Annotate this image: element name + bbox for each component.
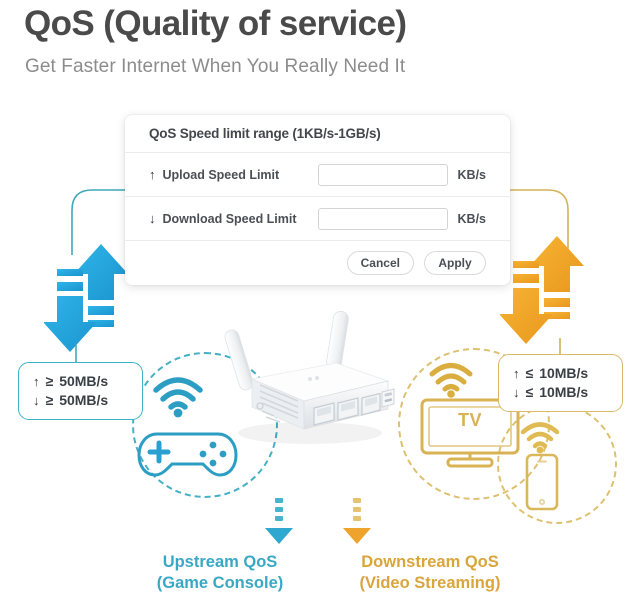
- arrow-up-icon: ↑: [149, 168, 156, 181]
- upload-speed-limit-row: ↑ Upload Speed Limit KB/s: [125, 153, 510, 197]
- wifi-signal-icon: [519, 420, 561, 454]
- downstream-qos-label-line1: Downstream QoS: [340, 552, 520, 573]
- speed-value: 10MB/s: [539, 364, 588, 383]
- apply-button[interactable]: Apply: [424, 251, 486, 275]
- wireless-router-icon: [218, 305, 398, 455]
- wifi-signal-icon: [427, 360, 475, 398]
- operator-symbol: ≤: [526, 383, 534, 402]
- upstream-down-arrow: [262, 498, 296, 546]
- arrow-up-icon: ↑: [33, 373, 40, 391]
- downstream-qos-label-line2: (Video Streaming): [340, 573, 520, 594]
- upstream-qos-label-line1: Upstream QoS: [140, 552, 300, 573]
- cancel-button[interactable]: Cancel: [347, 251, 414, 275]
- download-speed-limit-label-text: Download Speed Limit: [163, 212, 297, 226]
- upstream-qos-label: Upstream QoS (Game Console): [140, 552, 300, 593]
- badge-line: ↓ ≤ 10MB/s: [513, 383, 612, 402]
- arrow-down-icon: ↓: [33, 392, 40, 410]
- upstream-speed-badge: ↑ ≥ 50MB/s ↓ ≥ 50MB/s: [18, 362, 143, 420]
- arrow-down-icon: ↓: [513, 384, 520, 402]
- downstream-down-arrow: [340, 498, 374, 546]
- download-speed-limit-label: ↓ Download Speed Limit: [149, 212, 318, 226]
- downstream-bidirectional-arrow: [500, 230, 596, 350]
- tv-screen-label: TV: [418, 410, 522, 431]
- page-title: QoS (Quality of service): [24, 4, 406, 44]
- operator-symbol: ≥: [46, 372, 54, 391]
- dialog-title: QoS Speed limit range (1KB/s-1GB/s): [149, 126, 381, 141]
- operator-symbol: ≤: [526, 364, 534, 383]
- smartphone-icon: [524, 452, 560, 512]
- dialog-header: QoS Speed limit range (1KB/s-1GB/s): [125, 115, 510, 153]
- download-speed-limit-input[interactable]: [318, 208, 448, 230]
- upload-speed-limit-label-text: Upload Speed Limit: [163, 168, 280, 182]
- speed-value: 10MB/s: [539, 383, 588, 402]
- downstream-speed-badge: ↑ ≤ 10MB/s ↓ ≤ 10MB/s: [498, 354, 623, 412]
- badge-line: ↓ ≥ 50MB/s: [33, 391, 132, 410]
- download-speed-unit: KB/s: [458, 212, 486, 226]
- speed-value: 50MB/s: [59, 391, 108, 410]
- arrow-down-icon: ↓: [149, 212, 156, 225]
- upload-speed-limit-input[interactable]: [318, 164, 448, 186]
- badge-line: ↑ ≥ 50MB/s: [33, 372, 132, 391]
- upstream-qos-label-line2: (Game Console): [140, 573, 300, 594]
- wifi-signal-icon: [150, 374, 206, 418]
- badge-line: ↑ ≤ 10MB/s: [513, 364, 612, 383]
- downstream-qos-label: Downstream QoS (Video Streaming): [340, 552, 520, 593]
- qos-speed-limit-dialog: QoS Speed limit range (1KB/s-1GB/s) ↑ Up…: [125, 115, 510, 285]
- upload-speed-limit-label: ↑ Upload Speed Limit: [149, 168, 318, 182]
- arrow-up-icon: ↑: [513, 365, 520, 383]
- download-speed-limit-row: ↓ Download Speed Limit KB/s: [125, 197, 510, 241]
- dialog-footer: Cancel Apply: [125, 241, 510, 285]
- page-subtitle: Get Faster Internet When You Really Need…: [25, 56, 405, 78]
- operator-symbol: ≥: [46, 391, 54, 410]
- speed-value: 50MB/s: [59, 372, 108, 391]
- qos-infographic: QoS (Quality of service) Get Faster Inte…: [0, 0, 640, 608]
- upload-speed-unit: KB/s: [458, 168, 486, 182]
